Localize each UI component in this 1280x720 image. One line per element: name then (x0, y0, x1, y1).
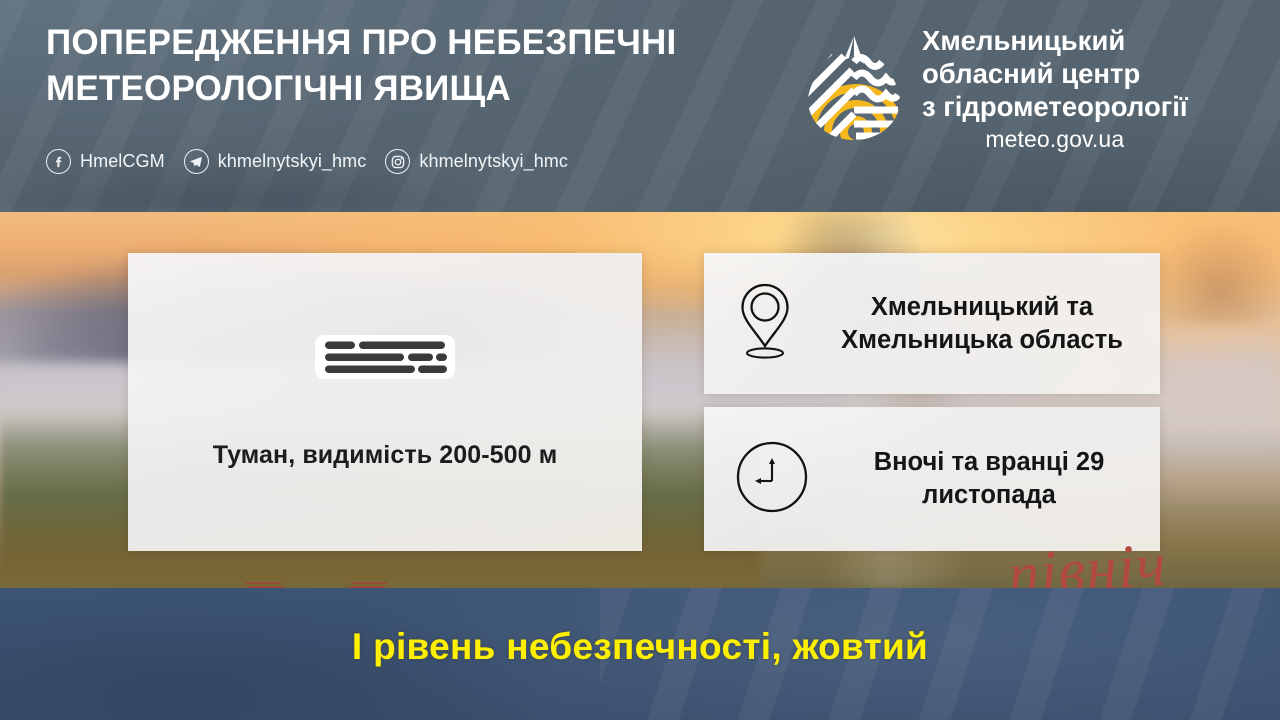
telegram-handle: khmelnytskyi_hmc (218, 151, 367, 172)
time-text: Вночі та вранці 29 листопада (832, 446, 1160, 511)
facebook-icon (46, 149, 71, 174)
instagram-handle: khmelnytskyi_hmc (419, 151, 568, 172)
weather-warning-infographic: ПОПЕРЕДЖЕННЯ ПРО НЕБЕЗПЕЧНІ МЕТЕОРОЛОГІЧ… (0, 0, 1280, 720)
social-links: HmelCGM khmelnytskyi_hmc khmelnytskyi_hm… (46, 149, 568, 174)
logo-website[interactable]: meteo.gov.ua (922, 126, 1188, 153)
phenomenon-caption: Туман, видимість 200-500 м (128, 441, 642, 470)
time-card: Вночі та вранці 29 листопада (704, 407, 1160, 551)
clock-icon (734, 439, 810, 520)
location-text: Хмельницький та Хмельницька область (818, 291, 1160, 356)
logo-line-3: з гідрометеорології (922, 90, 1188, 123)
logo-text-block: Хмельницький обласний центр з гідрометео… (922, 22, 1188, 153)
page-title: ПОПЕРЕДЖЕННЯ ПРО НЕБЕЗПЕЧНІ МЕТЕОРОЛОГІЧ… (46, 20, 806, 111)
fog-icon (128, 329, 642, 384)
instagram-icon (385, 149, 410, 174)
map-pin-icon (734, 280, 796, 367)
organization-logo[interactable]: Хмельницький обласний центр з гідрометео… (800, 22, 1188, 153)
location-card: Хмельницький та Хмельницька область (704, 253, 1160, 394)
raindrop-hydrometeorology-logo-icon (800, 26, 908, 144)
social-link-facebook[interactable]: HmelCGM (46, 149, 165, 174)
phenomenon-card: Туман, видимість 200-500 м (128, 253, 642, 551)
social-link-telegram[interactable]: khmelnytskyi_hmc (184, 149, 367, 174)
danger-level-text: І рівень небезпечності, жовтий (0, 626, 1280, 668)
logo-line-2: обласний центр (922, 57, 1188, 90)
facebook-handle: HmelCGM (80, 151, 165, 172)
social-link-instagram[interactable]: khmelnytskyi_hmc (385, 149, 568, 174)
title-line-1: ПОПЕРЕДЖЕННЯ ПРО НЕБЕЗПЕЧНІ (46, 20, 806, 66)
title-line-2: МЕТЕОРОЛОГІЧНІ ЯВИЩА (46, 66, 806, 112)
telegram-icon (184, 149, 209, 174)
logo-line-1: Хмельницький (922, 24, 1188, 57)
